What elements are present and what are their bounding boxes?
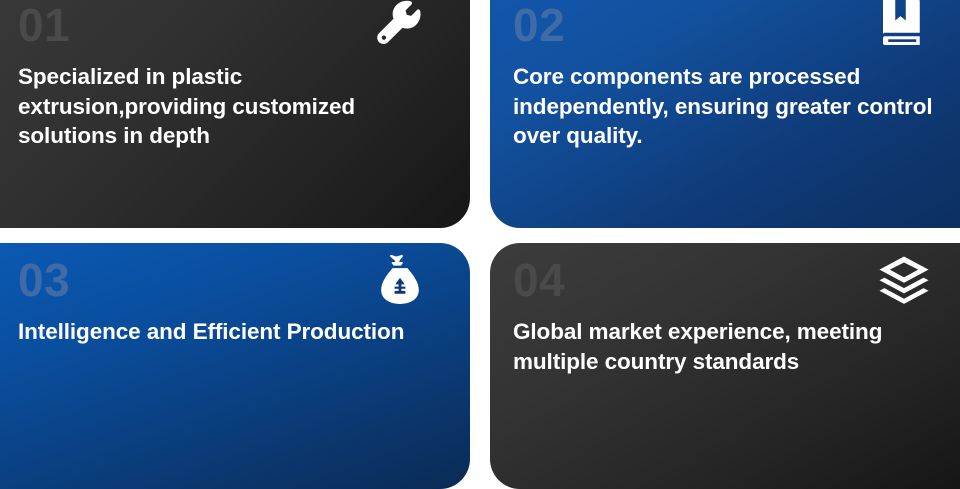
card-number: 04: [513, 257, 940, 303]
card-number: 03: [18, 257, 436, 303]
card-title: Core components are processed independen…: [513, 62, 940, 151]
feature-card-grid: 01 Specialized in plastic extrusion,prov…: [0, 0, 960, 459]
feature-card-03[interactable]: 03 Intelligence and Efficient Production: [0, 243, 470, 489]
feature-card-02[interactable]: 02 Core components are processed indepen…: [490, 0, 960, 228]
card-number: 02: [513, 2, 940, 48]
card-title: Global market experience, meeting multip…: [513, 317, 940, 376]
card-number: 01: [18, 2, 436, 48]
card-content: 02 Core components are processed indepen…: [513, 2, 940, 151]
card-content: 03 Intelligence and Efficient Production: [18, 257, 436, 347]
card-content: 01 Specialized in plastic extrusion,prov…: [18, 2, 436, 151]
card-title: Specialized in plastic extrusion,providi…: [18, 62, 436, 151]
feature-card-01[interactable]: 01 Specialized in plastic extrusion,prov…: [0, 0, 470, 228]
feature-card-04[interactable]: 04 Global market experience, meeting mul…: [490, 243, 960, 489]
card-content: 04 Global market experience, meeting mul…: [513, 257, 940, 376]
card-title: Intelligence and Efficient Production: [18, 317, 436, 347]
